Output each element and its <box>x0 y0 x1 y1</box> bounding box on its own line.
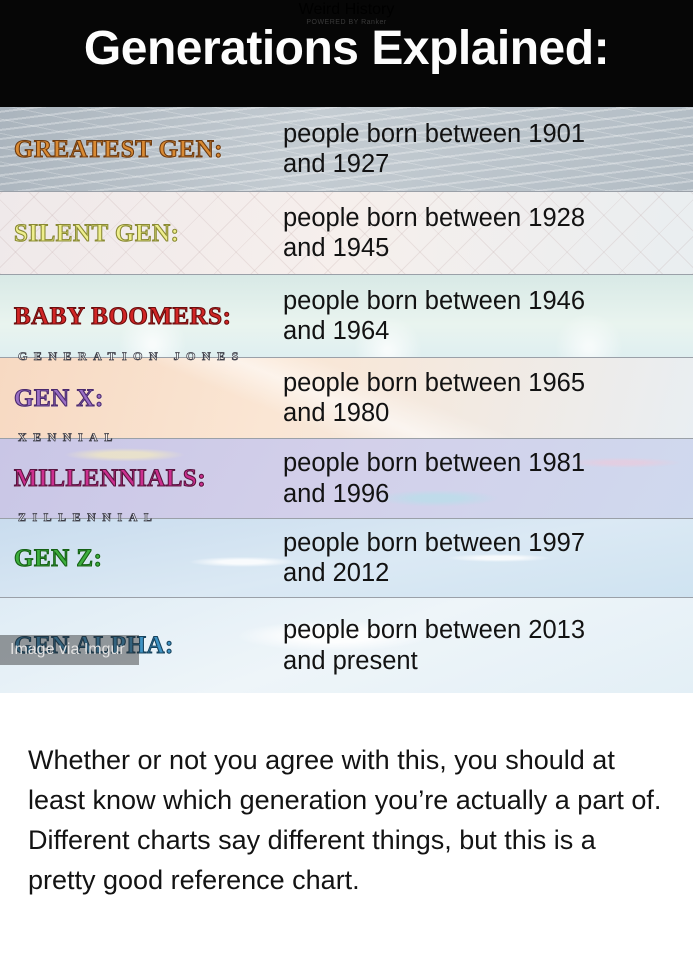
caption-text: Whether or not you agree with this, you … <box>28 741 669 901</box>
generation-description: people born between 1928 and 1945 <box>283 204 585 262</box>
generation-description: people born between 1901 and 1927 <box>283 120 585 178</box>
generation-description: people born between 1946 and 1964 <box>283 287 585 345</box>
table-row-greatest-gen: GREATEST GEN: people born between 1901 a… <box>0 107 693 191</box>
generation-description: people born between 2013 and present <box>283 616 585 674</box>
imgur-attribution: Image via Imgur <box>0 635 139 665</box>
table-row-baby-boomers: BABY BOOMERS: people born between 1946 a… <box>0 274 693 357</box>
table-row-gen-z: GEN Z: people born between 1997 and 2012 <box>0 518 693 597</box>
generations-infographic: Weird History POWERED BY Ranker Generati… <box>0 0 693 693</box>
table-row-gen-x: GEN X: people born between 1965 and 1980 <box>0 357 693 438</box>
generation-description-cell: people born between 1928 and 1945 <box>283 203 693 263</box>
generation-label: GREATEST GEN: <box>14 137 223 162</box>
generation-description: people born between 1997 and 2012 <box>283 529 585 587</box>
generation-label: GEN X: <box>14 386 104 411</box>
sub-divider-zillennial: ZILLENNIAL <box>18 511 158 523</box>
infographic-header: Weird History POWERED BY Ranker Generati… <box>0 0 693 107</box>
sub-divider-generation-jones: GENERATION JONES <box>18 350 245 362</box>
generation-description-cell: people born between 1965 and 1980 <box>283 368 693 428</box>
generation-label: GEN Z: <box>14 546 102 571</box>
generation-label-cell: MILLENNIALS: <box>0 466 283 491</box>
watermark-brand: Weird History <box>299 1 395 18</box>
generation-description: people born between 1965 and 1980 <box>283 369 585 427</box>
generation-label-cell: GEN X: <box>0 386 283 411</box>
generation-description-cell: people born between 1946 and 1964 <box>283 286 693 346</box>
generation-description: people born between 1981 and 1996 <box>283 449 585 507</box>
page-title: Generations Explained: <box>0 21 693 78</box>
caption-area: Whether or not you agree with this, you … <box>0 693 693 960</box>
generation-label-cell: GREATEST GEN: <box>0 137 283 162</box>
table-row-silent-gen: SILENT GEN: people born between 1928 and… <box>0 191 693 274</box>
generation-label-cell: GEN Z: <box>0 546 283 571</box>
generation-label: MILLENNIALS: <box>14 466 206 491</box>
generation-label: BABY BOOMERS: <box>14 304 231 329</box>
generation-label-cell: SILENT GEN: <box>0 221 283 246</box>
generation-description-cell: people born between 1997 and 2012 <box>283 528 693 588</box>
generation-description-cell: people born between 2013 and present <box>283 615 693 675</box>
generation-description-cell: people born between 1901 and 1927 <box>283 119 693 179</box>
generation-description-cell: people born between 1981 and 1996 <box>283 448 693 508</box>
generation-label: SILENT GEN: <box>14 221 180 246</box>
generations-table: GREATEST GEN: people born between 1901 a… <box>0 107 693 693</box>
table-row-millennials: MILLENNIALS: people born between 1981 an… <box>0 438 693 518</box>
sub-divider-xennial: XENNIAL <box>18 431 119 443</box>
generation-label-cell: BABY BOOMERS: <box>0 304 283 329</box>
